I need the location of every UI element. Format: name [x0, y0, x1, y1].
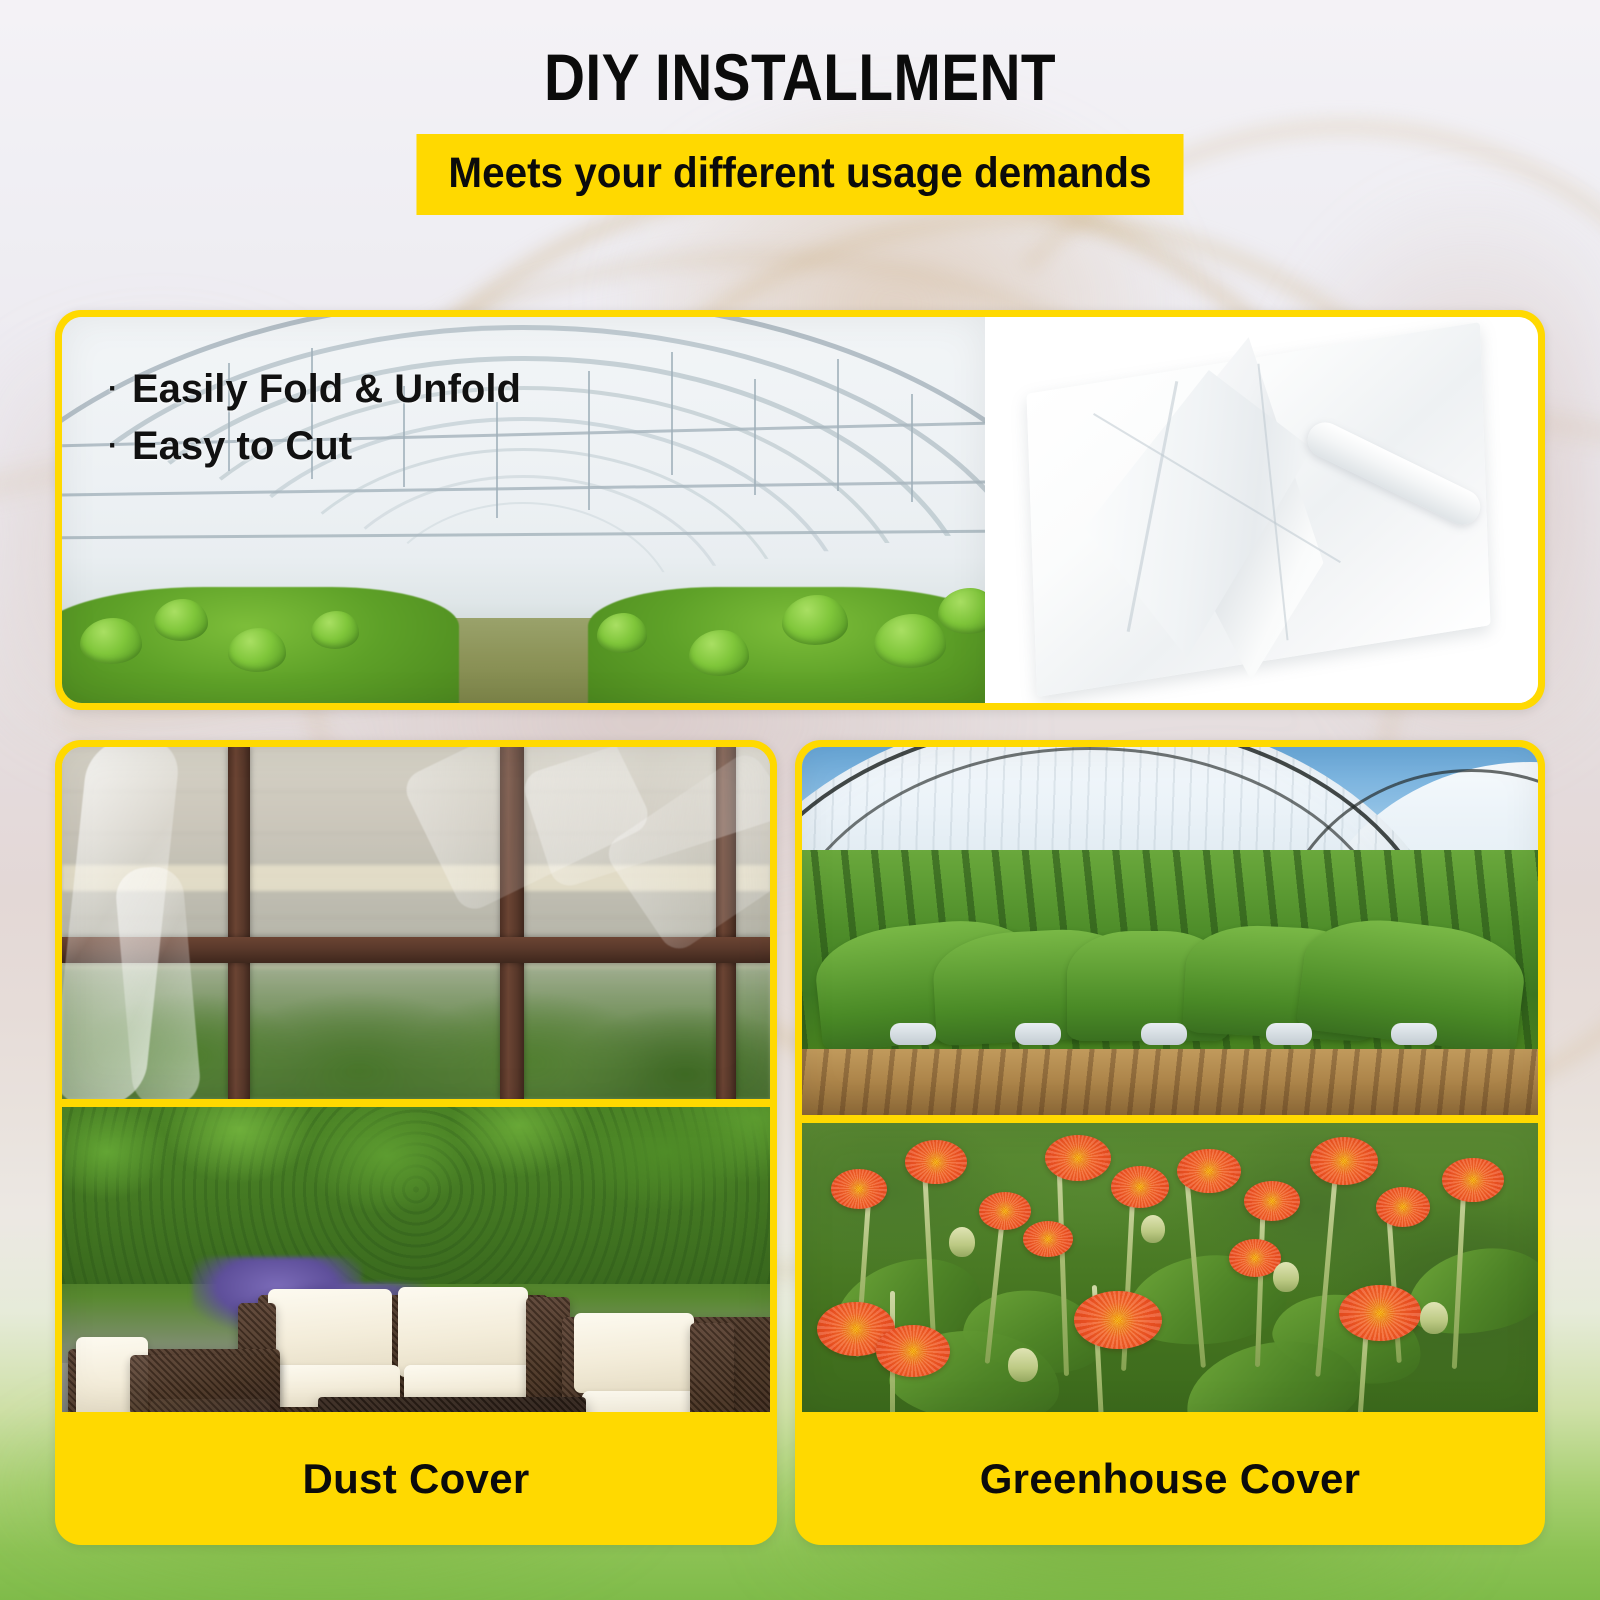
product-infographic-poster: DIY INSTALLMENT Meets your different usa… [0, 0, 1600, 1600]
coffee-table [318, 1397, 586, 1412]
patio-scene [62, 1107, 770, 1412]
polytunnel-photo [802, 747, 1538, 1115]
folded-sheet-illustration [985, 317, 1539, 703]
polytunnel-scene [802, 747, 1538, 1115]
feature-card: · Easily Fold & Unfold · Easy to Cut [55, 310, 1545, 710]
dust-cover-card: Dust Cover [55, 740, 777, 1545]
greenhouse-cover-caption: Greenhouse Cover [802, 1420, 1538, 1538]
subtitle-text: Meets your different usage demands [417, 134, 1184, 215]
bullet-dot-icon: · [108, 431, 118, 461]
page-title: DIY INSTALLMENT [112, 0, 1488, 110]
list-item: · Easily Fold & Unfold [108, 361, 521, 418]
bullet-dot-icon: · [108, 374, 118, 404]
gerbera-field-photo [802, 1123, 1538, 1412]
garden-hedge [62, 1107, 770, 1284]
gerbera-scene [802, 1123, 1538, 1412]
greenhouse-interior-photo: · Easily Fold & Unfold · Easy to Cut [62, 317, 985, 703]
feature-bullet-list: · Easily Fold & Unfold · Easy to Cut [108, 361, 521, 475]
patio-furniture-photo [62, 1107, 770, 1412]
poster-header: DIY INSTALLMENT Meets your different usa… [0, 0, 1600, 215]
bullet-text: Easily Fold & Unfold [132, 361, 521, 418]
product-photo [985, 317, 1539, 703]
window-sheeting-photo [62, 747, 770, 1099]
list-item: · Easy to Cut [108, 418, 521, 475]
soil-foreground [802, 1049, 1538, 1115]
greenhouse-cover-card: Greenhouse Cover [795, 740, 1545, 1545]
bullet-text: Easy to Cut [132, 418, 352, 475]
window-scene [62, 747, 770, 1099]
dust-cover-caption: Dust Cover [62, 1420, 770, 1538]
subtitle-banner: Meets your different usage demands [0, 134, 1600, 215]
